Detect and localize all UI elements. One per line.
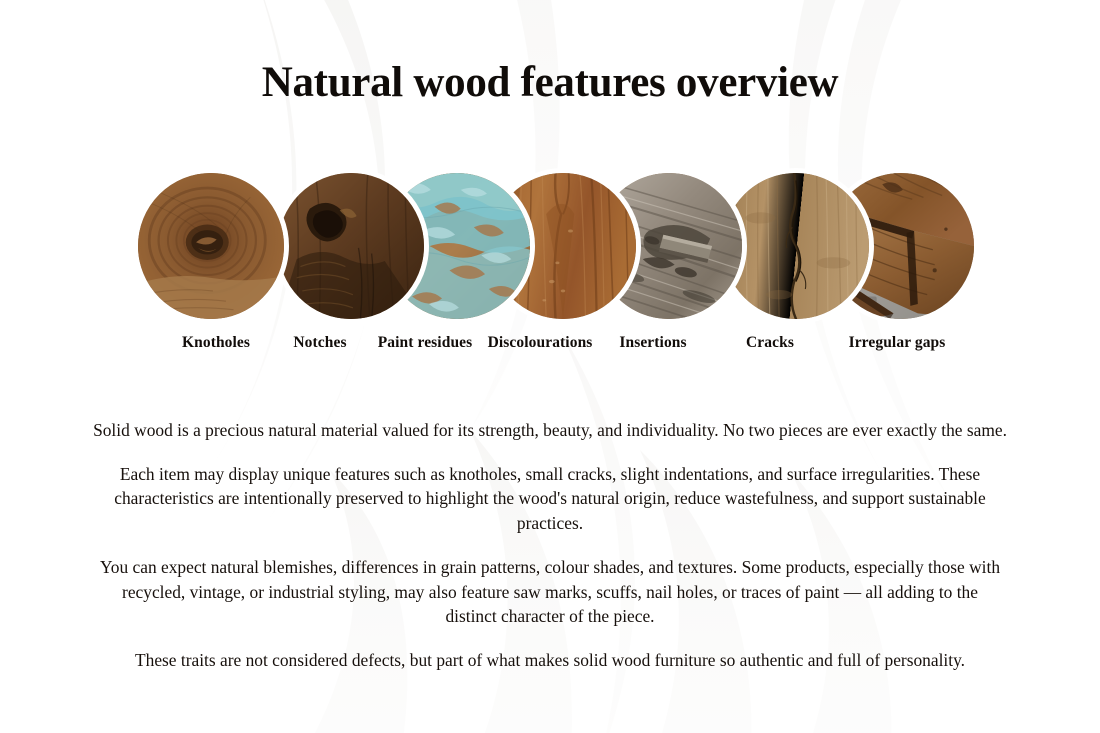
body-paragraph-1: Solid wood is a precious natural materia…	[90, 418, 1010, 443]
feature-label-knotholes: Knotholes	[182, 334, 250, 352]
feature-image-strip	[133, 168, 983, 328]
body-paragraph-4: These traits are not considered defects,…	[120, 648, 980, 673]
feature-label-paint-residues: Paint residues	[378, 334, 473, 352]
feature-image-notches	[273, 168, 429, 324]
feature-label-row: Knotholes Notches Paint residues Discolo…	[0, 334, 1100, 358]
page-title: Natural wood features overview	[0, 58, 1100, 107]
body-copy: Solid wood is a precious natural materia…	[90, 418, 1010, 673]
feature-label-cracks: Cracks	[746, 334, 794, 352]
feature-label-irregular-gaps: Irregular gaps	[849, 334, 946, 352]
feature-label-insertions: Insertions	[619, 334, 686, 352]
body-paragraph-2: Each item may display unique features su…	[105, 462, 995, 536]
feature-label-discolourations: Discolourations	[488, 334, 593, 352]
poster-page: Natural wood features overview	[0, 0, 1100, 733]
body-paragraph-3: You can expect natural blemishes, differ…	[97, 555, 1003, 629]
feature-image-knotholes	[133, 168, 289, 324]
feature-label-notches: Notches	[293, 334, 346, 352]
